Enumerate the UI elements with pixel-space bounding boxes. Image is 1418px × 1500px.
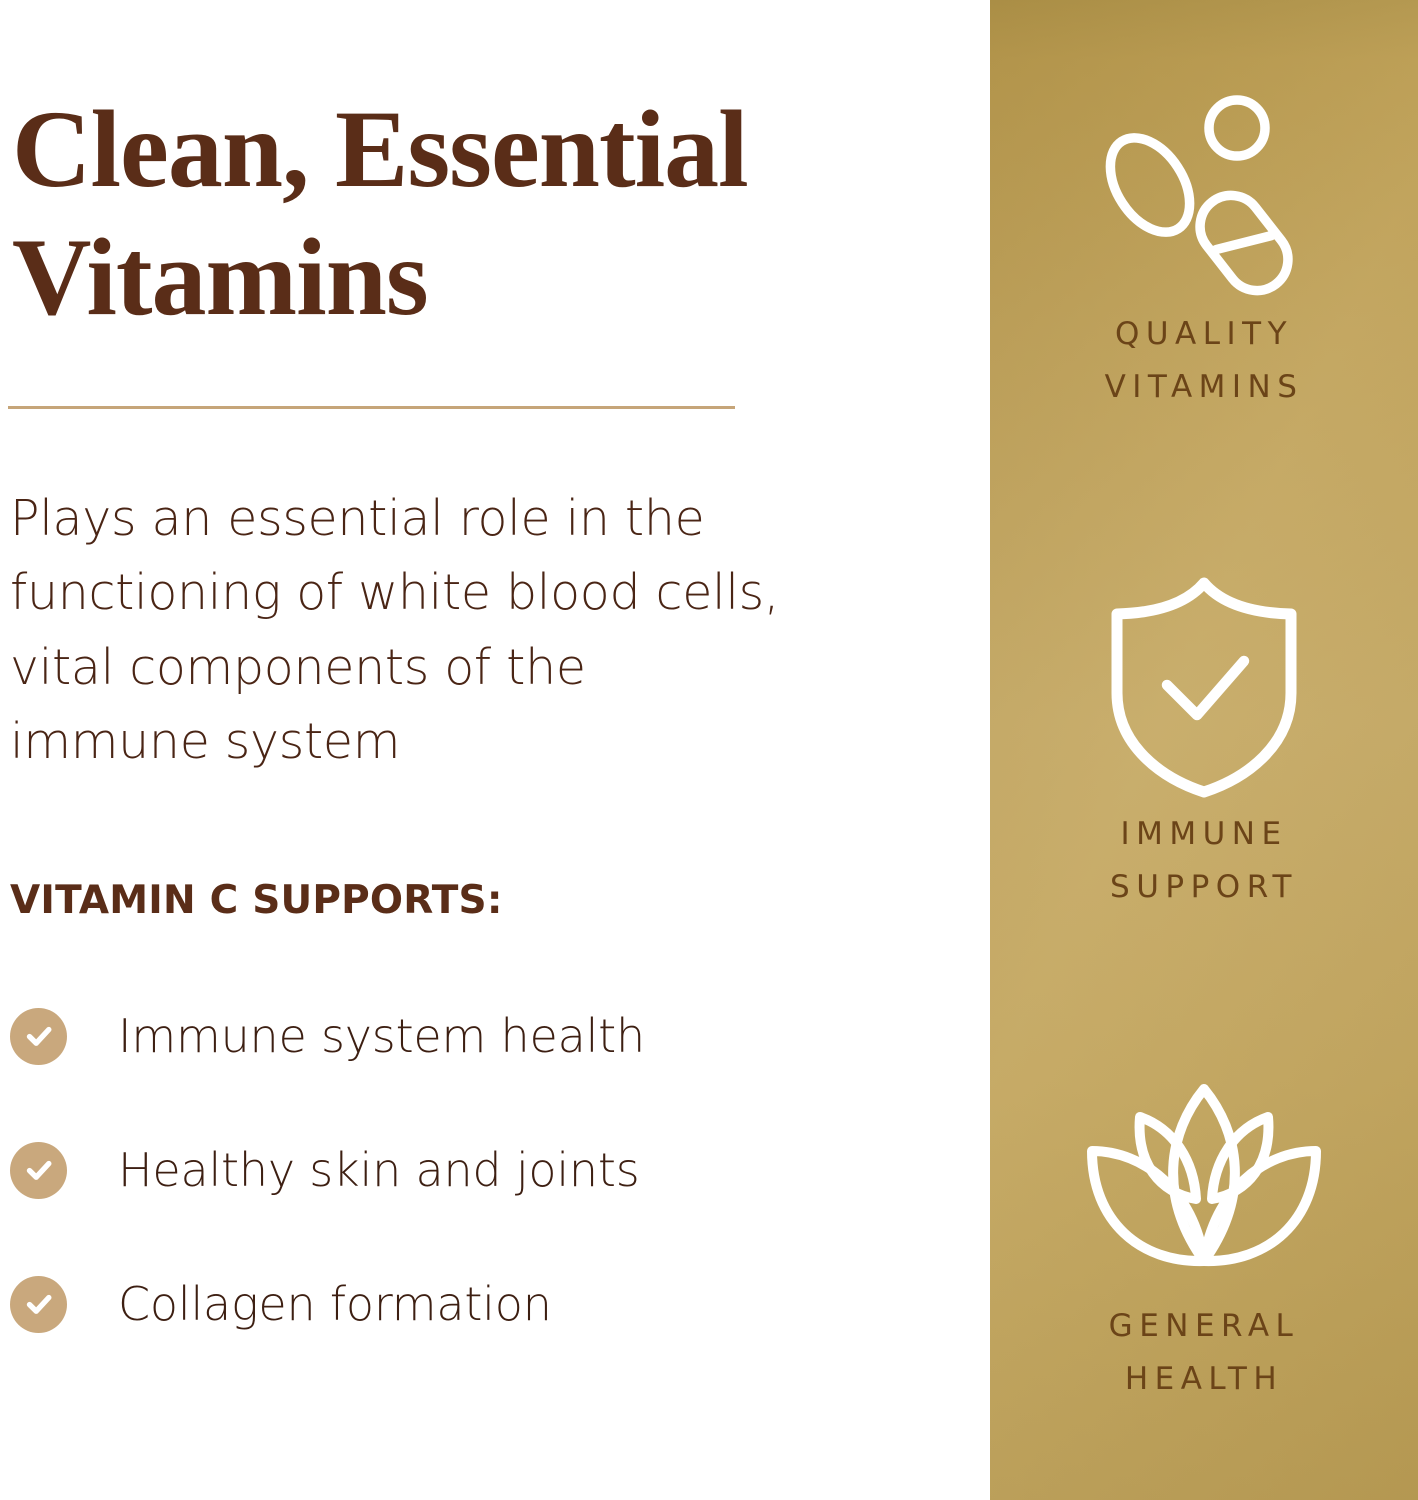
shield-check-icon xyxy=(990,572,1418,802)
left-content-panel: Clean, Essential Vitamins Plays an essen… xyxy=(0,0,990,1500)
feature-rail: QUALITY VITAMINS IMMUNE SUPPORT xyxy=(990,0,1418,1500)
intro-paragraph: Plays an essential role in the functioni… xyxy=(10,482,800,780)
rail-label-line1: GENERAL xyxy=(1109,1308,1300,1344)
rail-block-immune-support: IMMUNE SUPPORT xyxy=(990,572,1418,915)
lotus-flower-icon xyxy=(990,1064,1418,1294)
rail-label-line2: HEALTH xyxy=(1125,1361,1283,1397)
list-item: Immune system health xyxy=(10,1002,910,1070)
page-title: Clean, Essential Vitamins xyxy=(12,86,912,341)
check-icon xyxy=(10,1276,67,1333)
pills-icon xyxy=(990,72,1418,302)
supports-heading: VITAMIN C SUPPORTS: xyxy=(10,878,503,923)
list-item-label: Healthy skin and joints xyxy=(118,1143,639,1197)
list-item-label: Immune system health xyxy=(118,1009,645,1063)
rail-label-line2: SUPPORT xyxy=(1110,869,1298,905)
list-item-label: Collagen formation xyxy=(118,1277,552,1331)
rail-label-immune: IMMUNE SUPPORT xyxy=(990,802,1418,915)
rail-block-general-health: GENERAL HEALTH xyxy=(990,1064,1418,1407)
check-icon xyxy=(10,1008,67,1065)
rail-label-line1: IMMUNE xyxy=(1120,816,1287,852)
rail-label-quality: QUALITY VITAMINS xyxy=(990,302,1418,415)
rail-label-general: GENERAL HEALTH xyxy=(990,1294,1418,1407)
title-divider xyxy=(8,406,735,409)
check-icon xyxy=(10,1142,67,1199)
rail-label-line1: QUALITY xyxy=(1115,316,1293,352)
list-item: Healthy skin and joints xyxy=(10,1136,910,1204)
product-infographic: Clean, Essential Vitamins Plays an essen… xyxy=(0,0,1418,1500)
list-item: Collagen formation xyxy=(10,1270,910,1338)
rail-label-line2: VITAMINS xyxy=(1105,369,1304,405)
benefit-list: Immune system health Healthy skin and jo… xyxy=(10,1002,910,1404)
rail-block-quality-vitamins: QUALITY VITAMINS xyxy=(990,72,1418,415)
